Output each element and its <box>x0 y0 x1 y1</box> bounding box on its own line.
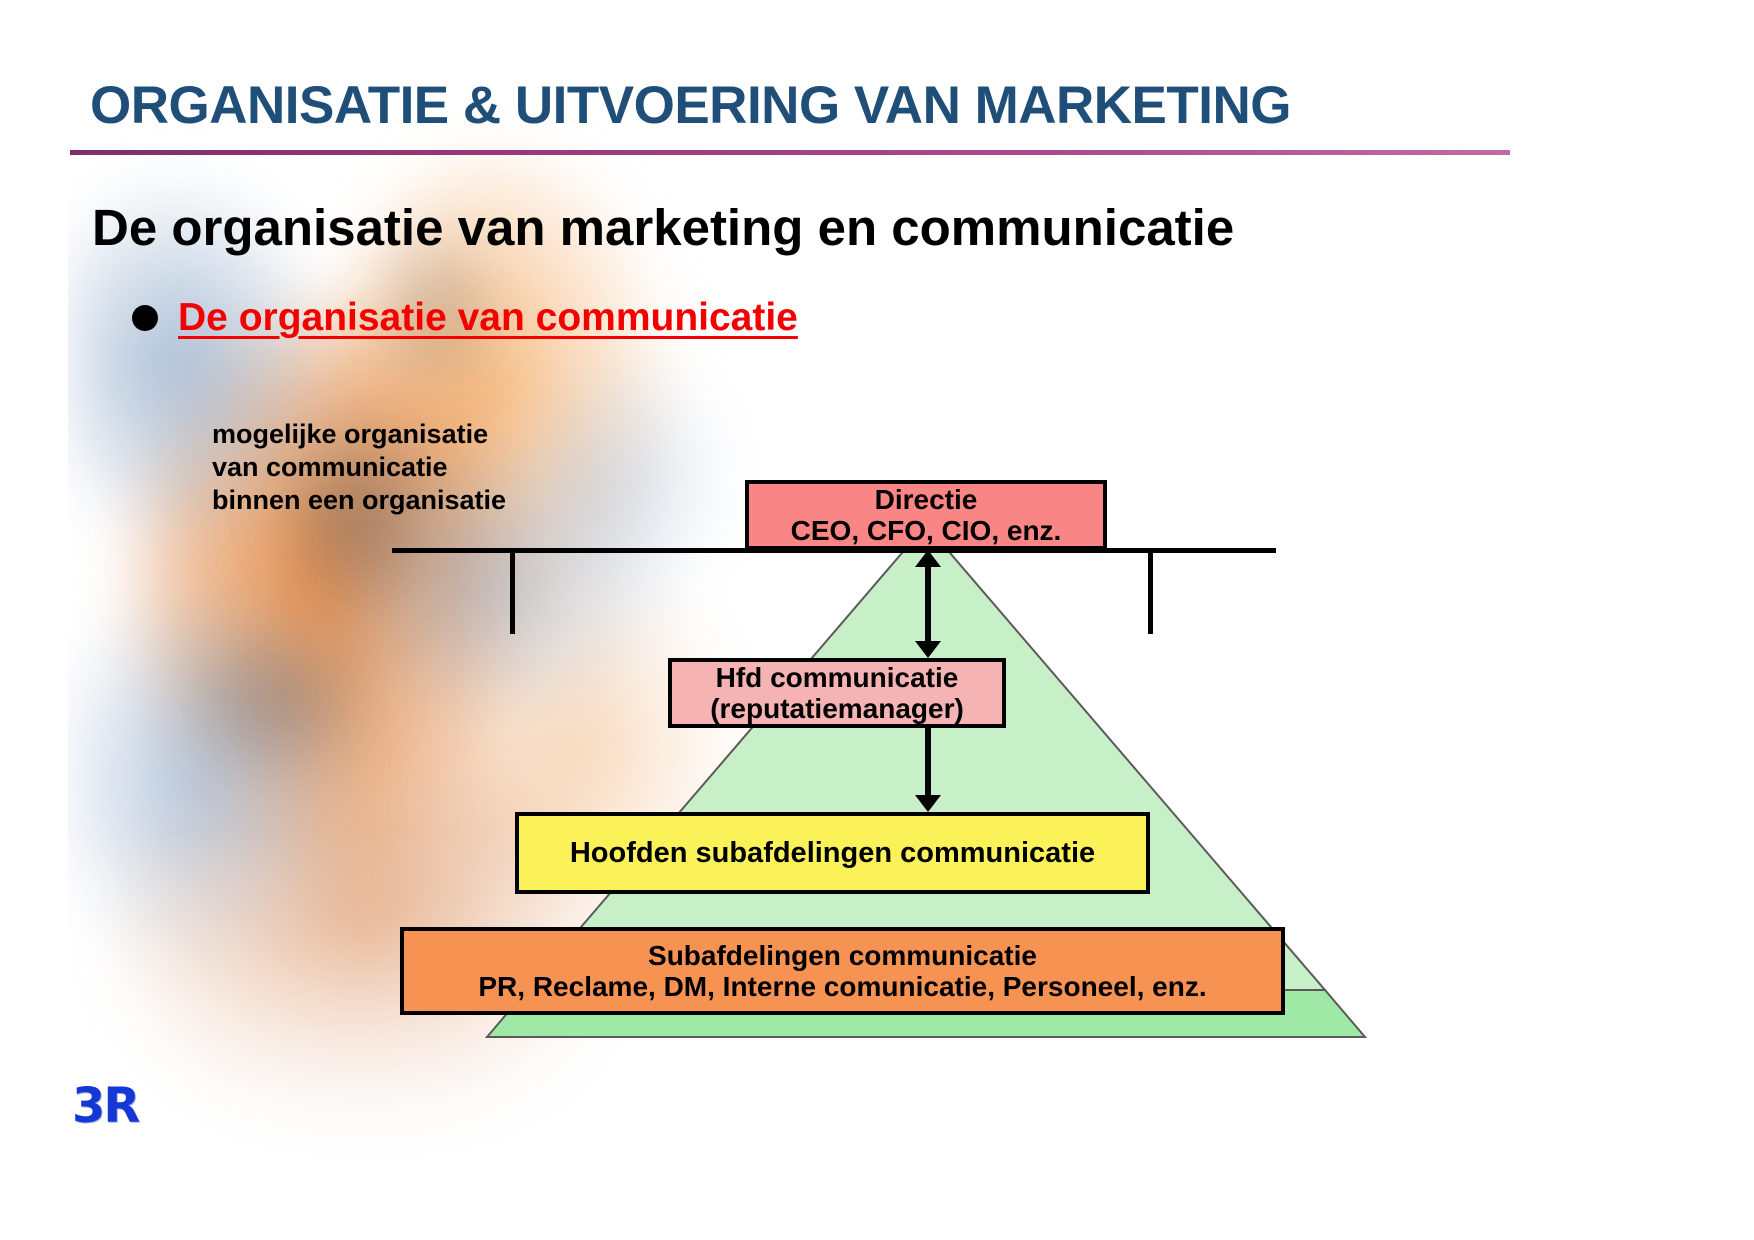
node-hfd-communicatie-line-1: Hfd communicatie <box>716 662 959 693</box>
slide-canvas: ORGANISATIE & UITVOERING VAN MARKETING D… <box>0 0 1754 1240</box>
arrowhead-down-icon <box>915 641 941 658</box>
node-subafdelingen[interactable]: Subafdelingen communicatie PR, Reclame, … <box>400 927 1285 1015</box>
node-hoofden-subafdelingen-line-1: Hoofden subafdelingen communicatie <box>570 837 1095 869</box>
org-chart-right-stub <box>1148 550 1153 634</box>
arrowhead-down-icon <box>915 795 941 812</box>
logo-3r: 3R <box>72 1078 138 1134</box>
node-directie[interactable]: Directie CEO, CFO, CIO, enz. <box>745 480 1107 550</box>
pyramid-org-chart: Directie CEO, CFO, CIO, enz. Hfd communi… <box>400 470 1520 1090</box>
node-directie-line-1: Directie <box>875 484 978 515</box>
node-hfd-communicatie[interactable]: Hfd communicatie (reputatiemanager) <box>668 658 1006 728</box>
page-title: De organisatie van marketing en communic… <box>92 198 1522 257</box>
bullet-item-label: De organisatie van communicatie <box>178 296 798 340</box>
connector-shaft <box>925 728 931 798</box>
node-directie-line-2: CEO, CFO, CIO, enz. <box>791 515 1062 546</box>
slide-title: ORGANISATIE & UITVOERING VAN MARKETING <box>90 68 1510 142</box>
node-hfd-communicatie-line-2: (reputatiemanager) <box>710 693 964 724</box>
node-subafdelingen-line-1: Subafdelingen communicatie <box>648 940 1037 971</box>
title-divider <box>70 150 1510 155</box>
connector-shaft <box>925 564 931 644</box>
bullet-item[interactable]: De organisatie van communicatie <box>132 296 798 340</box>
diagram-caption-line-1: mogelijke organisatie <box>212 418 682 451</box>
node-hoofden-subafdelingen[interactable]: Hoofden subafdelingen communicatie <box>515 812 1150 894</box>
bullet-dot-icon <box>132 305 158 331</box>
arrowhead-up-icon <box>915 550 941 567</box>
node-subafdelingen-line-2: PR, Reclame, DM, Interne comunicatie, Pe… <box>478 971 1206 1002</box>
org-chart-left-stub <box>510 550 515 634</box>
